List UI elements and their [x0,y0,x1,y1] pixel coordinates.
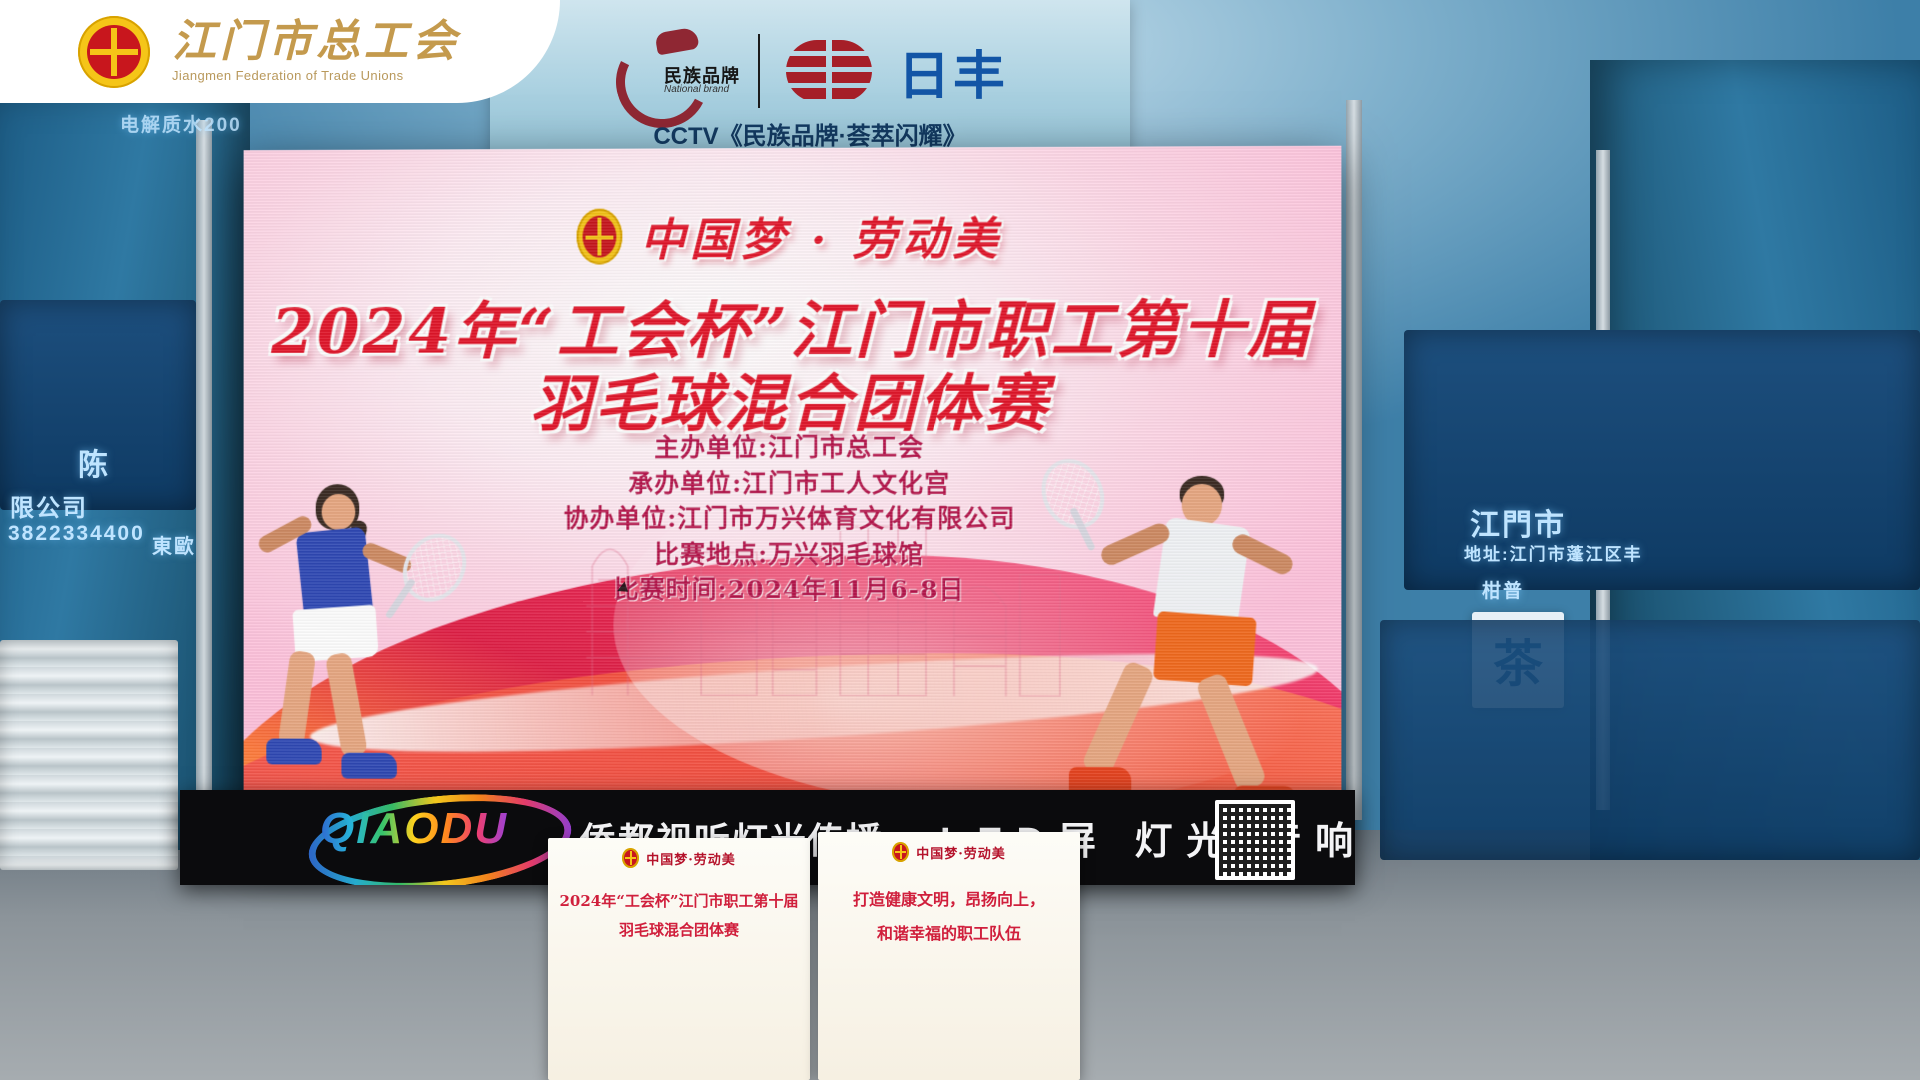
sponsor-name: 日丰 [898,34,1008,109]
venue-sign-ganpu: 柑普 [1482,576,1524,603]
truss-vertical-right [1346,100,1362,820]
qr-code-icon [1215,800,1295,880]
placard-slogan: 中国梦·劳动美 打造健康文明，昂扬向上， 和谐幸福的职工队伍 [818,832,1080,1080]
national-brand-en: National brand [664,84,729,95]
placard-event: 中国梦·劳动美 2024年“工会杯”江门市职工第十届 羽毛球混合团体赛 [548,838,810,1080]
top-sponsor-banner: 民族品牌 National brand 日丰 CCTV《民族品牌·荟萃闪耀》 [490,0,1130,170]
placard-line2-2: 和谐幸福的职工队伍 [818,920,1080,944]
sponsor-divider [758,34,760,108]
national-brand-dragon-icon: 民族品牌 National brand [612,28,732,114]
union-emblem-icon-small-1 [622,848,639,868]
led-backdrop: 中国梦 · 劳动美 2024年“工会杯”江门市职工第十届 羽毛球混合团体赛 主办… [244,146,1342,853]
backdrop-tagline-row: 中国梦 · 劳动美 [244,201,1342,269]
rifeng-mark-icon [786,40,872,102]
cctv-program-line: CCTV《民族品牌·荟萃闪耀》 [490,116,1130,151]
venue-sign-company: 限公司 [10,488,88,523]
placard-line1-2: 打造健康文明，昂扬向上， [818,886,1080,910]
venue-sign-electrolyte: 电解质水200 [120,110,242,137]
placard-tagline-row-2: 中国梦·劳动美 [818,842,1080,862]
booth-right-lower [1380,620,1920,860]
truss-vertical-left [196,120,212,820]
union-logo-overlay: 江门市总工会 Jiangmen Federation of Trade Unio… [0,0,560,103]
placard-line1-1: 2024年“工会杯”江门市职工第十届 [548,890,810,911]
union-logo-name-en: Jiangmen Federation of Trade Unions [172,68,460,83]
union-logo-text-group: 江门市总工会 Jiangmen Federation of Trade Unio… [172,20,460,83]
venue-sign-address: 地址:江门市蓬江区丰 [1464,540,1643,565]
qiaodu-brand-latin: QIAODU [320,804,508,854]
venue-sign-phone: 3822334400 [8,522,145,546]
placard-tagline-1: 中国梦·劳动美 [646,849,736,868]
venue-sign-jiangmen: 江門市 [1470,500,1566,544]
venue-sign-dongou: 東歐 [152,530,196,559]
placard-line2-1: 羽毛球混合团体赛 [548,919,810,940]
union-emblem-icon-overlay [78,16,150,88]
placard-tagline-2: 中国梦·劳动美 [916,843,1006,862]
union-emblem-icon-small-2 [892,842,909,862]
photo-scene: 陈 限公司 3822334400 東歐 电解质水200 江門市 地址:江门市蓬江… [0,0,1920,1080]
sponsor-logo-row: 民族品牌 National brand 日丰 [490,26,1130,116]
venue-sign-chen: 陈 [78,440,110,484]
union-emblem-icon [577,208,623,264]
water-bottle-stack [0,640,178,870]
placard-tagline-row-1: 中国梦·劳动美 [548,848,810,868]
backdrop-tagline: 中国梦 · 劳动美 [640,202,1002,268]
union-logo-name-cn: 江门市总工会 [172,20,460,64]
